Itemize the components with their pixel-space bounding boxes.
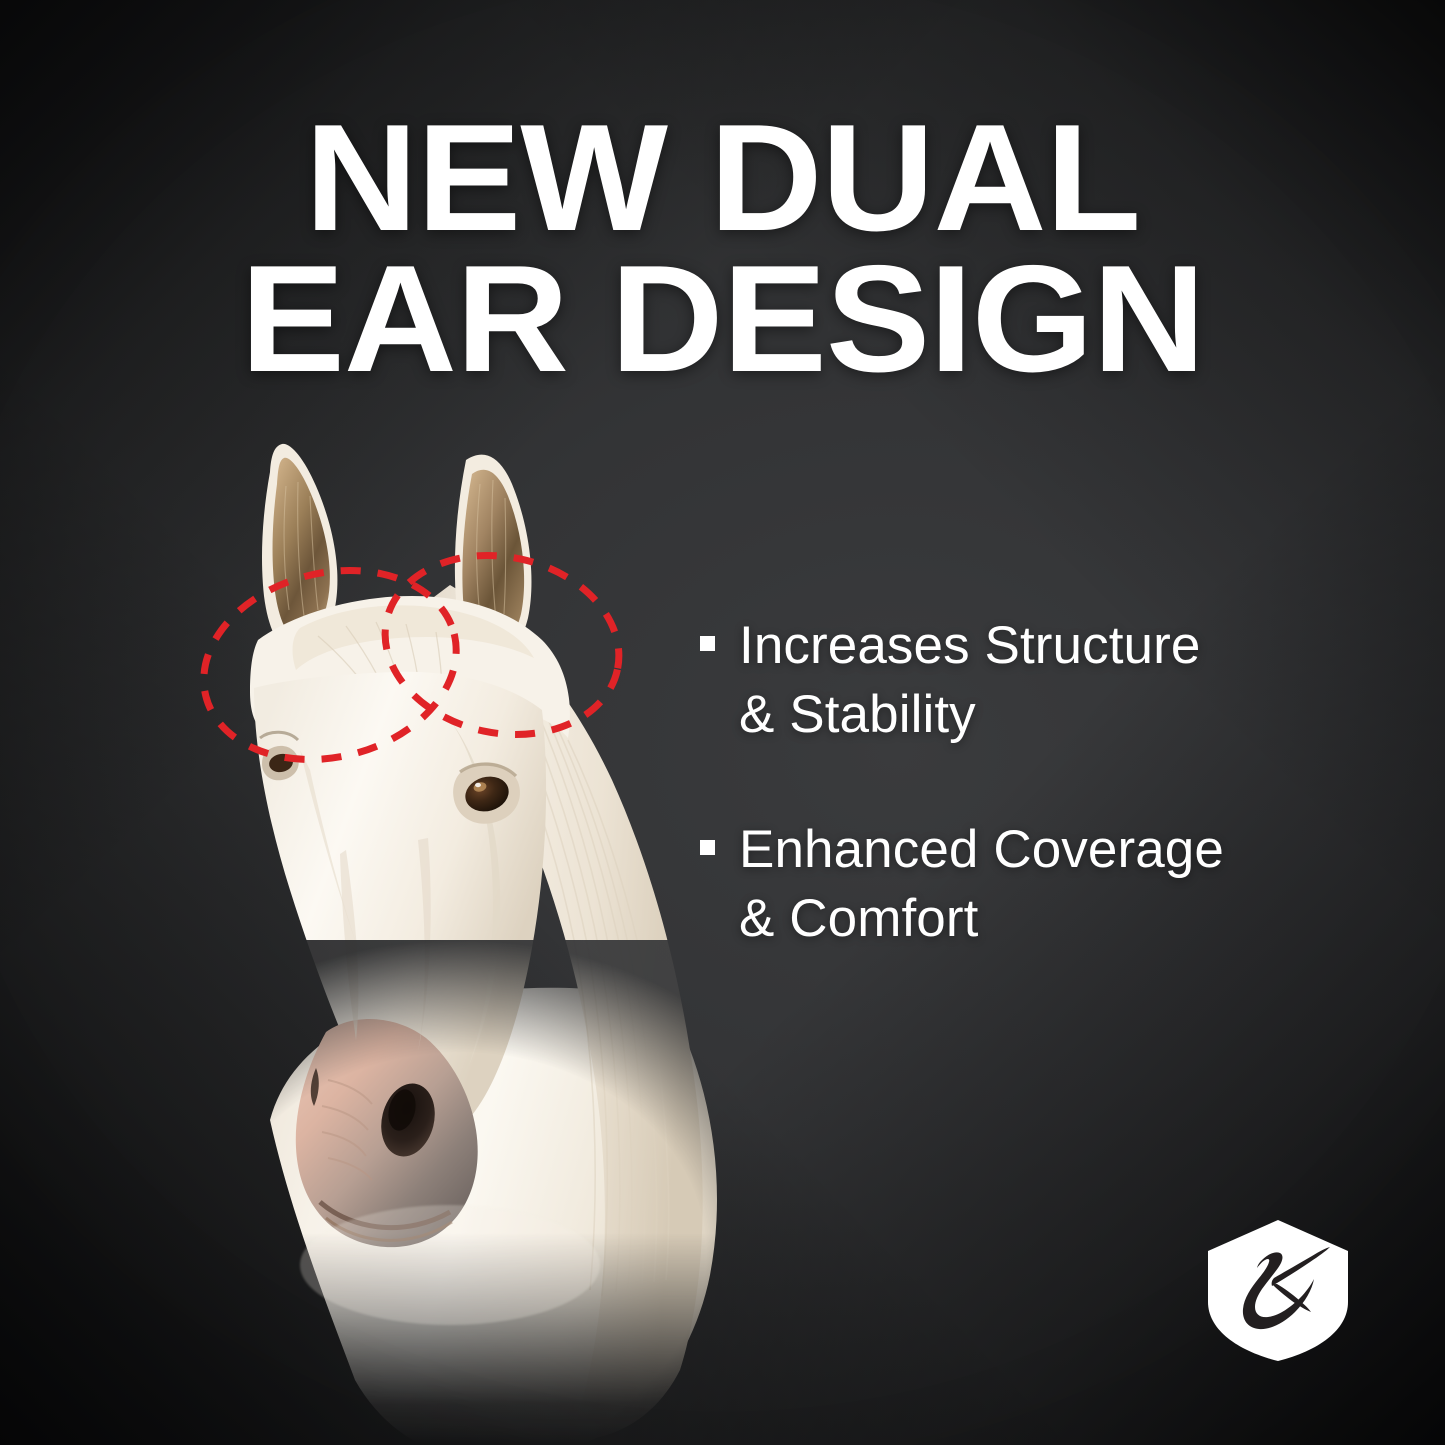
brand-logo [1202,1218,1354,1363]
square-bullet-icon [700,636,715,651]
list-item: Increases Structure & Stability [700,612,1360,750]
promo-image: NEW DUAL EAR DESIGN Increases Structure … [0,0,1445,1445]
list-item: Enhanced Coverage & Comfort [700,816,1360,954]
feature-text: Increases Structure & Stability [739,612,1200,750]
feature-line-1: Enhanced Coverage [739,820,1224,879]
shield-shape [1208,1220,1348,1361]
feature-line-1: Increases Structure [739,616,1200,675]
feature-line-2: & Comfort [739,889,978,948]
square-bullet-icon [700,840,715,855]
feature-text: Enhanced Coverage & Comfort [739,816,1224,954]
feature-line-2: & Stability [739,685,976,744]
feature-list: Increases Structure & Stability Enhanced… [700,612,1360,954]
